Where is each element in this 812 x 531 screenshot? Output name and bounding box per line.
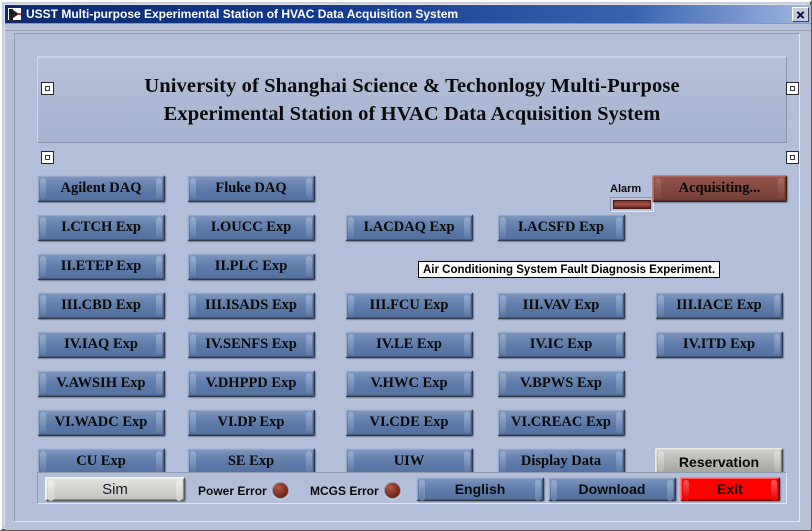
selection-handle-top-right[interactable]: [787, 83, 798, 94]
button-english[interactable]: English: [416, 477, 544, 501]
power-error-indicator-group: Power Error: [198, 482, 289, 499]
button-iv-itd-exp[interactable]: IV.ITD Exp: [655, 331, 783, 358]
button-exit[interactable]: Exit: [680, 477, 780, 501]
mcgs-error-indicator-group: MCGS Error: [310, 482, 401, 499]
button-iii-vav-exp[interactable]: III.VAV Exp: [497, 292, 625, 319]
button-vi-cde-exp[interactable]: VI.CDE Exp: [345, 409, 473, 436]
button-cu-exp[interactable]: CU Exp: [37, 448, 165, 475]
button-agilent-daq[interactable]: Agilent DAQ: [37, 175, 165, 202]
button-uiw[interactable]: UIW: [345, 448, 473, 475]
mcgs-error-label: MCGS Error: [310, 484, 379, 498]
button-fluke-daq[interactable]: Fluke DAQ: [187, 175, 315, 202]
button-iii-isads-exp[interactable]: III.ISADS Exp: [187, 292, 315, 319]
button-se-exp[interactable]: SE Exp: [187, 448, 315, 475]
labview-icon: [7, 7, 22, 21]
main-panel: University of Shanghai Science & Techonl…: [14, 33, 800, 522]
button-v-bpws-exp[interactable]: V.BPWS Exp: [497, 370, 625, 397]
button-v-dhppd-exp[interactable]: V.DHPPD Exp: [187, 370, 315, 397]
button-iv-ic-exp[interactable]: IV.IC Exp: [497, 331, 625, 358]
application-window: USST Multi-purpose Experimental Station …: [0, 0, 812, 531]
tooltip: Air Conditioning System Fault Diagnosis …: [418, 261, 720, 278]
button-grid: Agilent DAQ Fluke DAQ Acquisiting... I.C…: [15, 34, 801, 523]
bottom-toolbar: Sim Power Error MCGS Error English Downl…: [37, 472, 787, 504]
title-bar: USST Multi-purpose Experimental Station …: [5, 5, 811, 23]
power-error-led: [272, 482, 289, 499]
selection-handle-bottom-left[interactable]: [42, 152, 53, 163]
button-download[interactable]: Download: [548, 477, 676, 501]
window-title: USST Multi-purpose Experimental Station …: [26, 7, 458, 21]
button-ii-plc-exp[interactable]: II.PLC Exp: [187, 253, 315, 280]
button-iv-le-exp[interactable]: IV.LE Exp: [345, 331, 473, 358]
button-acquisiting[interactable]: Acquisiting...: [652, 175, 787, 202]
power-error-label: Power Error: [198, 484, 267, 498]
button-i-ctch-exp[interactable]: I.CTCH Exp: [37, 214, 165, 241]
close-icon[interactable]: [792, 7, 809, 22]
button-v-hwc-exp[interactable]: V.HWC Exp: [345, 370, 473, 397]
button-i-acsfd-exp[interactable]: I.ACSFD Exp: [497, 214, 625, 241]
client-area: University of Shanghai Science & Techonl…: [5, 23, 811, 530]
button-display-data[interactable]: Display Data: [497, 448, 625, 475]
mcgs-error-led: [384, 482, 401, 499]
button-iii-cbd-exp[interactable]: III.CBD Exp: [37, 292, 165, 319]
button-i-oucc-exp[interactable]: I.OUCC Exp: [187, 214, 315, 241]
selection-handle-top-left[interactable]: [42, 83, 53, 94]
button-reservation[interactable]: Reservation: [655, 448, 783, 475]
button-ii-etep-exp[interactable]: II.ETEP Exp: [37, 253, 165, 280]
button-vi-wadc-exp[interactable]: VI.WADC Exp: [37, 409, 165, 436]
client-top-strip: [5, 24, 811, 31]
button-iv-senfs-exp[interactable]: IV.SENFS Exp: [187, 331, 315, 358]
selection-handle-bottom-right[interactable]: [787, 152, 798, 163]
button-iii-fcu-exp[interactable]: III.FCU Exp: [345, 292, 473, 319]
button-sim[interactable]: Sim: [45, 477, 185, 501]
button-vi-creac-exp[interactable]: VI.CREAC Exp: [497, 409, 625, 436]
button-i-acdaq-exp[interactable]: I.ACDAQ Exp: [345, 214, 473, 241]
button-iv-iaq-exp[interactable]: IV.IAQ Exp: [37, 331, 165, 358]
button-v-awsih-exp[interactable]: V.AWSIH Exp: [37, 370, 165, 397]
button-vi-dp-exp[interactable]: VI.DP Exp: [187, 409, 315, 436]
button-iii-iace-exp[interactable]: III.IACE Exp: [655, 292, 783, 319]
